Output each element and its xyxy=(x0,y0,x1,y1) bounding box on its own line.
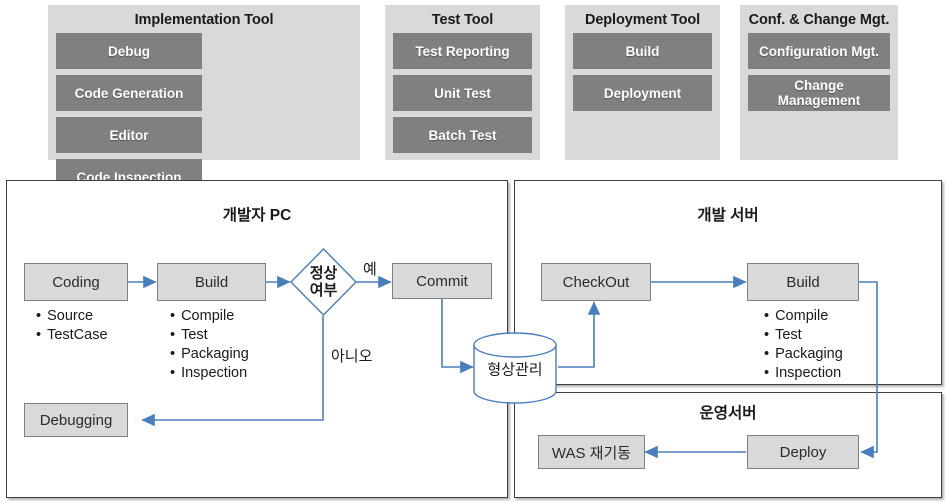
tool-button-grid: Configuration Mgt. ChangeManagement xyxy=(748,33,890,111)
tool-button-code-generation[interactable]: Code Generation xyxy=(56,75,202,111)
bullet-item: TestCase xyxy=(36,326,108,345)
tool-button-change-management[interactable]: ChangeManagement xyxy=(748,75,890,111)
bullets-coding: Source TestCase xyxy=(36,307,108,345)
tool-button-editor[interactable]: Editor xyxy=(56,117,202,153)
node-build-dev-pc[interactable]: Build xyxy=(157,263,266,301)
bullet-item: Packaging xyxy=(764,345,843,364)
region-title-developer-pc: 개발자 PC xyxy=(7,203,507,225)
node-coding[interactable]: Coding xyxy=(24,263,128,301)
tool-button-deployment[interactable]: Deployment xyxy=(573,75,712,111)
bullets-build-dev-pc: Compile Test Packaging Inspection xyxy=(170,307,249,383)
bullet-item: Source xyxy=(36,307,108,326)
edge-label-yes: 예 xyxy=(363,258,377,279)
bullet-item: Inspection xyxy=(764,364,843,383)
node-was-restart[interactable]: WAS 재기동 xyxy=(538,435,645,469)
tool-button-grid: Build Deployment xyxy=(573,33,712,111)
tool-panel-title: Conf. & Change Mgt. xyxy=(748,9,890,31)
tool-button-debug[interactable]: Debug xyxy=(56,33,202,69)
tool-button-configuration-mgt[interactable]: Configuration Mgt. xyxy=(748,33,890,69)
tool-panel-implementation: Implementation Tool Debug Code Generatio… xyxy=(48,5,360,160)
tool-panel-title: Test Tool xyxy=(393,9,532,31)
node-decision-normal[interactable]: 정상 여부 xyxy=(290,248,357,316)
tool-panel-deployment: Deployment Tool Build Deployment xyxy=(565,5,720,160)
tool-button-test-reporting[interactable]: Test Reporting xyxy=(393,33,532,69)
bullet-item: Test xyxy=(170,326,249,345)
edge-label-no: 아니오 xyxy=(331,345,372,366)
datastore-label: 형상관리 xyxy=(472,359,558,380)
bullet-item: Packaging xyxy=(170,345,249,364)
node-deploy[interactable]: Deploy xyxy=(747,435,859,469)
node-build-dev-server[interactable]: Build xyxy=(747,263,859,301)
node-commit[interactable]: Commit xyxy=(392,263,492,299)
node-datastore-configuration-management[interactable]: 형상관리 xyxy=(472,332,558,404)
region-title-dev-server: 개발 서버 xyxy=(515,203,941,225)
node-debugging[interactable]: Debugging xyxy=(24,403,128,437)
bullet-item: Compile xyxy=(764,307,843,326)
decision-label: 정상 여부 xyxy=(290,265,357,299)
bullets-build-dev-server: Compile Test Packaging Inspection xyxy=(764,307,843,383)
tool-button-batch-test[interactable]: Batch Test xyxy=(393,117,532,153)
tool-button-build[interactable]: Build xyxy=(573,33,712,69)
bullet-item: Test xyxy=(764,326,843,345)
tool-panel-title: Implementation Tool xyxy=(56,9,352,31)
tool-button-unit-test[interactable]: Unit Test xyxy=(393,75,532,111)
tool-panel-title: Deployment Tool xyxy=(573,9,712,31)
tool-panel-test: Test Tool Test Reporting Unit Test Batch… xyxy=(385,5,540,160)
node-checkout[interactable]: CheckOut xyxy=(541,263,651,301)
tool-panel-conf-change-mgt: Conf. & Change Mgt. Configuration Mgt. C… xyxy=(740,5,898,160)
bullet-item: Compile xyxy=(170,307,249,326)
tool-button-grid: Test Reporting Unit Test Batch Test xyxy=(393,33,532,153)
region-title-ops-server: 운영서버 xyxy=(515,401,941,423)
bullet-item: Inspection xyxy=(170,364,249,383)
